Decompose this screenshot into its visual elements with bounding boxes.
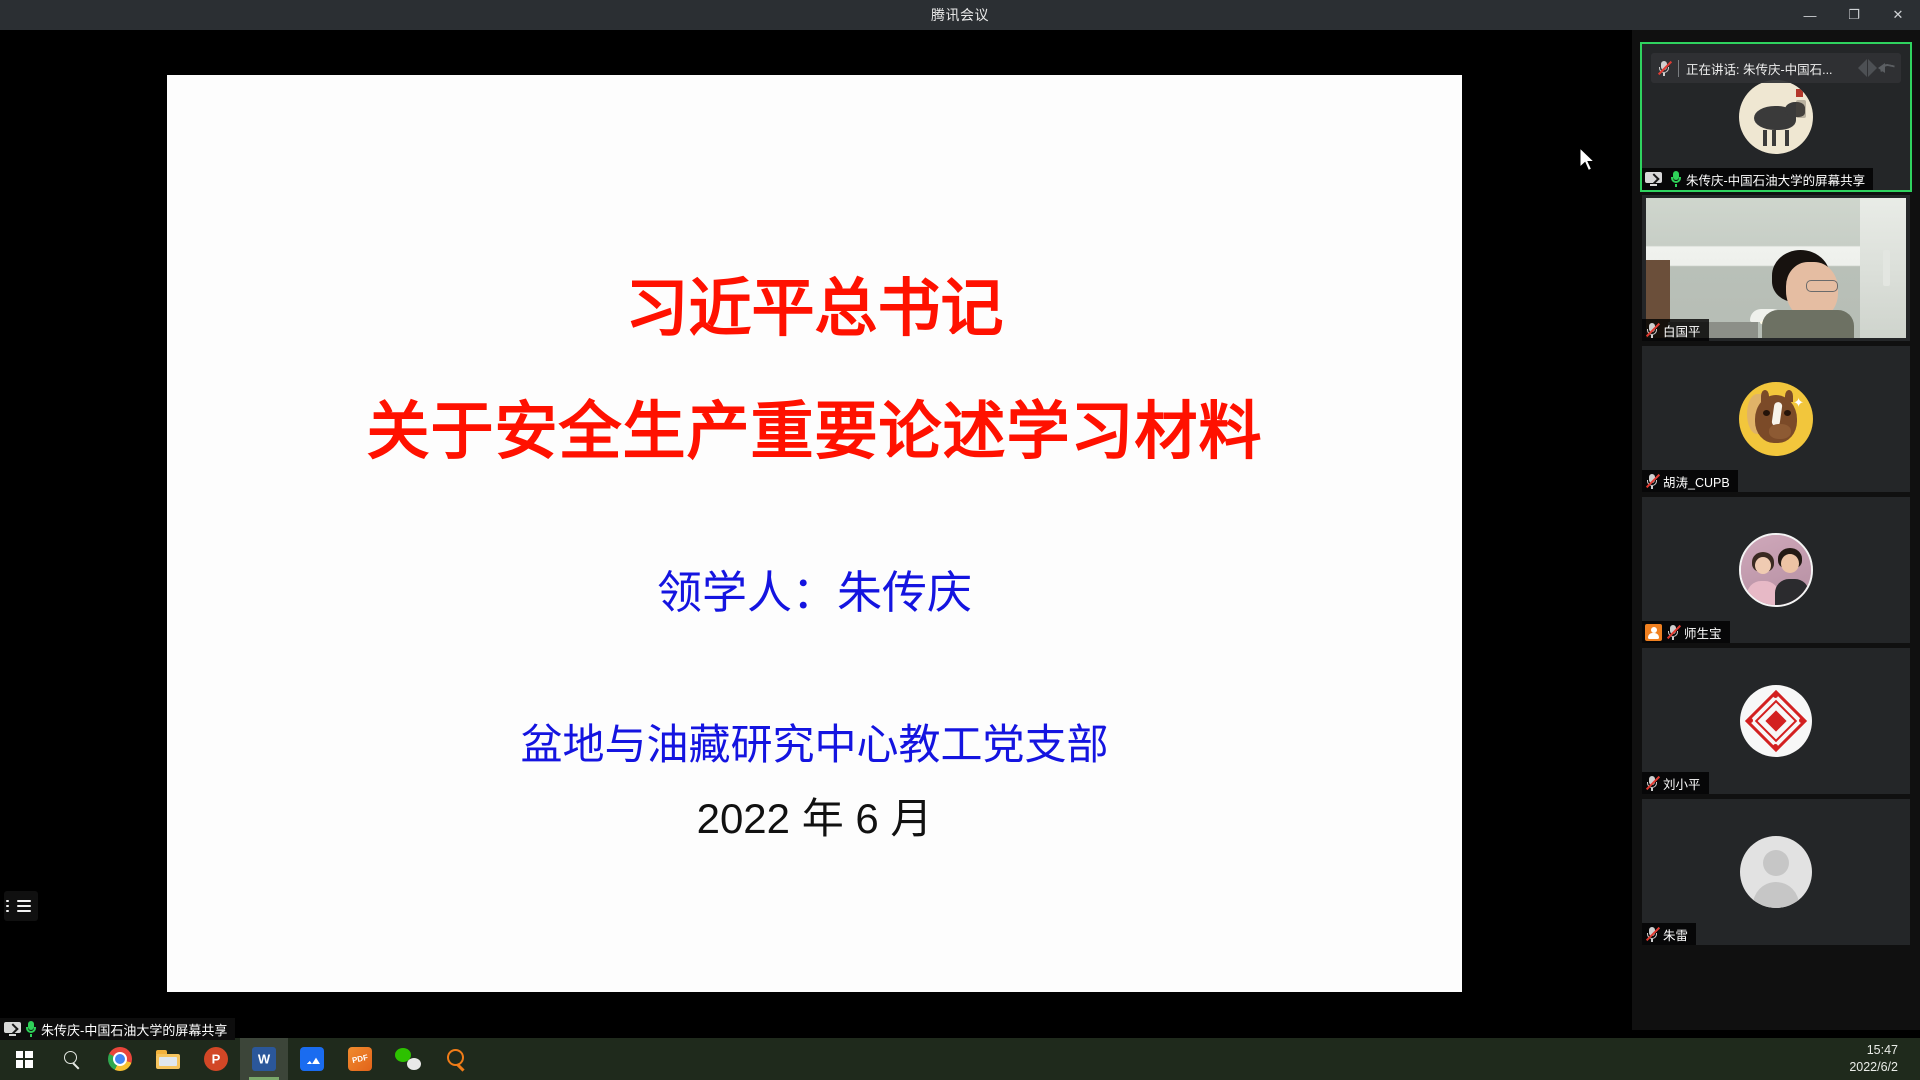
mic-stem (1651, 486, 1653, 489)
participant-name: 朱雷 (1663, 925, 1688, 944)
host-badge-icon (1645, 624, 1662, 641)
strip-divider (1678, 60, 1679, 77)
windows-taskbar[interactable]: 15:47 2022/6/2 (0, 1038, 1920, 1080)
folder-icon (156, 1050, 180, 1069)
shared-screen-stage: 习近平总书记 关于安全生产重要论述学习材料 领学人：朱传庆 盆地与油藏研究中心教… (0, 30, 1632, 1030)
default-avatar-head (1763, 850, 1789, 876)
taskbar-wechat[interactable] (384, 1038, 432, 1080)
slide-title-line-2: 关于安全生产重要论述学习材料 (167, 398, 1462, 467)
participant-tile[interactable]: 白国平 (1642, 195, 1910, 341)
screen-stand (9, 1034, 16, 1036)
sparkle-icon: ✦ (1793, 396, 1804, 409)
mic-stem (1651, 788, 1653, 791)
participant-namebar: 刘小平 (1642, 772, 1709, 794)
taskbar-everything-search[interactable] (432, 1038, 480, 1080)
screen-share-icon (1645, 172, 1662, 186)
horse-cartoon-avatar: ✦ (1739, 382, 1813, 456)
mic-off-icon (1645, 775, 1659, 791)
mic-arc (26, 1027, 36, 1033)
mic-stem (1675, 184, 1677, 187)
screen-stand (1650, 184, 1657, 186)
taskbar-chrome[interactable] (96, 1038, 144, 1080)
default-person-avatar (1740, 836, 1812, 908)
pdf-icon (348, 1047, 372, 1071)
papercut-dot (1799, 718, 1804, 723)
host-body (1648, 633, 1659, 639)
ox-seal (1796, 89, 1803, 97)
taskbar-pdf-reader[interactable] (336, 1038, 384, 1080)
webcam-video (1646, 198, 1906, 338)
participant-name: 白国平 (1663, 321, 1701, 340)
participant-tile[interactable]: 师生宝 (1642, 497, 1910, 643)
ox-painting-avatar (1739, 80, 1813, 154)
slide-date-line: 2022 年 6 月 (167, 796, 1462, 842)
participant-name: 师生宝 (1684, 623, 1722, 642)
mic-on-icon (25, 1021, 37, 1037)
mic-arc (1671, 177, 1681, 183)
taskbar-clock[interactable]: 15:47 2022/6/2 (1849, 1042, 1898, 1076)
window-controls: — ❐ ✕ (1788, 0, 1920, 30)
minimize-button[interactable]: — (1788, 0, 1832, 30)
participant-name: 朱传庆-中国石油大学的屏幕共享 (1686, 170, 1865, 189)
list-menu-bars (11, 897, 31, 915)
mouse-cursor (1580, 148, 1598, 174)
voov-meeting-icon (300, 1047, 324, 1071)
child-two-face (1781, 554, 1799, 573)
share-banner-label: 朱传庆-中国石油大学的屏幕共享 (41, 1020, 227, 1039)
participant-name: 胡涛_CUPB (1663, 472, 1730, 491)
participant-tile[interactable]: 朱雷 (1642, 799, 1910, 945)
list-menu-bar (17, 905, 31, 908)
participant-namebar: 白国平 (1642, 319, 1709, 341)
chrome-icon (108, 1047, 132, 1071)
mic-off-icon (1645, 473, 1659, 489)
participant-tile[interactable]: 正在讲话: 朱传庆-中国石... 朱传庆-中国石油大学的屏幕共享 (1642, 44, 1910, 190)
screen-share-icon (4, 1022, 21, 1036)
chevron-right-icon[interactable] (1868, 59, 1877, 77)
horse-eye (1763, 410, 1770, 416)
taskbar-tencent-meeting[interactable] (288, 1038, 336, 1080)
app-title: 腾讯会议 (931, 5, 989, 25)
window-titlebar: 腾讯会议 — ❐ ✕ (0, 0, 1920, 30)
horse-muzzle (1769, 424, 1791, 439)
chevron-left-icon[interactable] (1858, 59, 1867, 77)
person-glasses (1806, 280, 1838, 292)
clock-time: 15:47 (1849, 1042, 1898, 1059)
slide-organization-line: 盆地与油藏研究中心教工党支部 (167, 722, 1462, 768)
taskbar-file-explorer[interactable] (144, 1038, 192, 1080)
participant-name: 刘小平 (1663, 774, 1701, 793)
mic-on-icon (1670, 171, 1682, 187)
default-avatar-body (1753, 882, 1799, 908)
two-children-photo-avatar (1739, 533, 1813, 607)
ox-leg (1772, 130, 1776, 146)
red-papercut-avatar (1740, 685, 1812, 757)
wechat-icon (395, 1048, 421, 1070)
participant-namebar: 朱传庆-中国石油大学的屏幕共享 (1642, 168, 1873, 190)
return-arrow-icon[interactable] (1878, 60, 1895, 77)
ox-leg (1763, 130, 1767, 146)
mic-stem (1651, 335, 1653, 338)
ox-leg (1785, 130, 1789, 146)
taskbar-powerpoint[interactable] (192, 1038, 240, 1080)
start-button[interactable] (0, 1038, 48, 1080)
horse-eye (1784, 410, 1791, 416)
list-menu-icon[interactable] (4, 891, 38, 921)
host-head (1651, 627, 1657, 633)
clock-date: 2022/6/2 (1849, 1059, 1898, 1076)
windows-logo-icon (16, 1051, 33, 1068)
participant-sidebar[interactable]: 正在讲话: 朱传庆-中国石... 朱传庆-中国石油大学的屏幕共享 (1632, 30, 1920, 1030)
wall-fixture (1883, 250, 1890, 286)
presentation-slide: 习近平总书记 关于安全生产重要论述学习材料 领学人：朱传庆 盆地与油藏研究中心教… (167, 75, 1462, 992)
mic-stem (30, 1034, 32, 1037)
mic-stem (1651, 939, 1653, 942)
screen-share-banner[interactable]: 朱传庆-中国石油大学的屏幕共享 (0, 1018, 235, 1040)
mic-off-icon (1645, 322, 1659, 338)
orange-search-icon (446, 1049, 466, 1069)
taskbar-search[interactable] (48, 1038, 96, 1080)
slide-title-line-1: 习近平总书记 (167, 275, 1462, 344)
mic-off-icon (1657, 60, 1671, 76)
search-icon (63, 1050, 81, 1068)
speaker-nav-controls (1858, 59, 1895, 77)
active-speaker-label: 正在讲话: 朱传庆-中国石... (1686, 59, 1833, 78)
child-one-face (1755, 557, 1771, 574)
word-icon (252, 1047, 276, 1071)
child-two-body (1775, 579, 1809, 605)
restore-button[interactable]: ❐ (1832, 0, 1876, 30)
list-menu-bar (17, 910, 31, 913)
taskbar-word[interactable] (240, 1038, 288, 1080)
participant-namebar: 师生宝 (1642, 621, 1730, 643)
papercut-dot (1773, 693, 1778, 698)
participant-tile[interactable]: 刘小平 (1642, 648, 1910, 794)
powerpoint-icon (204, 1047, 228, 1071)
mic-off-icon (1645, 926, 1659, 942)
participant-namebar: 朱雷 (1642, 923, 1696, 945)
active-speaker-strip: 正在讲话: 朱传庆-中国石... (1651, 53, 1901, 83)
person-shirt (1762, 310, 1854, 338)
ox-inscription (1796, 100, 1806, 118)
papercut-dot (1748, 718, 1753, 723)
papercut-dot (1773, 744, 1778, 749)
participant-namebar: 胡涛_CUPB (1642, 470, 1738, 492)
participant-tile[interactable]: ✦ 胡涛_CUPB (1642, 346, 1910, 492)
close-button[interactable]: ✕ (1876, 0, 1920, 30)
mic-stem (1663, 73, 1665, 76)
list-menu-bar (17, 900, 31, 903)
mic-stem (1672, 637, 1674, 640)
slide-presenter-line: 领学人：朱传庆 (167, 568, 1462, 618)
mic-off-icon (1666, 624, 1680, 640)
